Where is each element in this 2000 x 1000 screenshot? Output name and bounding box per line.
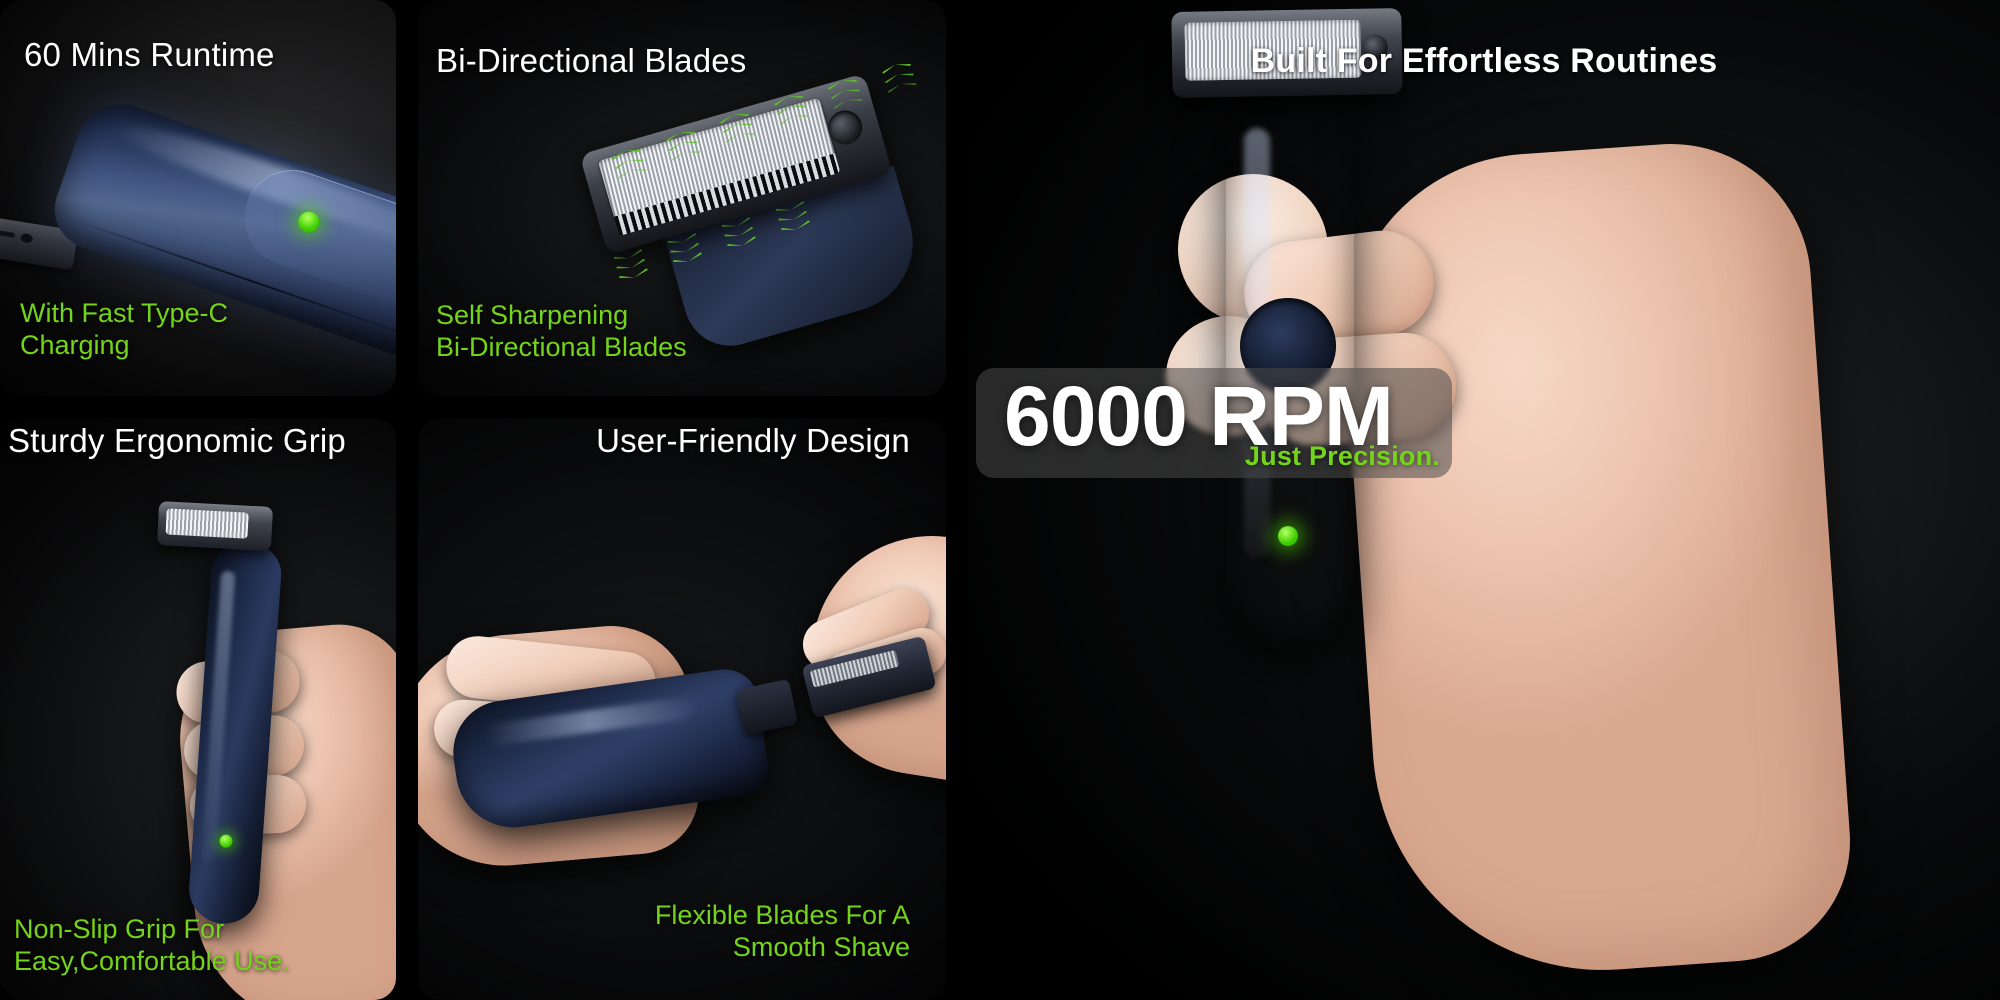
panel-design-headline: User-Friendly Design — [596, 422, 910, 460]
panel-grip[interactable]: Sturdy Ergonomic Grip Non-Slip Grip For … — [0, 418, 396, 1000]
product-feature-collage: 60 Mins Runtime With Fast Type-C Chargin… — [0, 0, 2000, 1000]
panel-hero[interactable]: Built For Effortless Routines 6000 RPM J… — [968, 0, 2000, 1000]
panel-grip-headline: Sturdy Ergonomic Grip — [8, 422, 346, 460]
vibration-chevron-icon — [613, 248, 649, 281]
body-gloss-highlight — [201, 571, 235, 861]
hero-headline: Built For Effortless Routines — [968, 42, 2000, 81]
panel-blades[interactable]: Bi-Directional Blades Self Sharpening Bi… — [418, 0, 946, 396]
panel-design[interactable]: User-Friendly Design Flexible Blades For… — [418, 418, 946, 1000]
rpm-badge: 6000 RPM Just Precision. — [976, 368, 1452, 478]
hand-holding-trimmer-icon — [968, 0, 2000, 1000]
panel-blades-headline: Bi-Directional Blades — [436, 42, 747, 80]
foil-mesh — [165, 508, 248, 538]
blade-socket-icon — [736, 679, 798, 735]
panel-grip-caption: Non-Slip Grip For Easy,Comfortable Use. — [14, 914, 290, 978]
vibration-chevron-icon — [881, 60, 917, 93]
power-led-icon — [219, 834, 233, 848]
hand-holding-trimmer-icon — [0, 418, 396, 1000]
panel-runtime-caption: With Fast Type-C Charging — [20, 298, 228, 362]
rpm-subtitle: Just Precision. — [1245, 441, 1440, 472]
panel-runtime-headline: 60 Mins Runtime — [24, 36, 275, 74]
power-led-icon — [1278, 526, 1298, 546]
panel-blades-caption: Self Sharpening Bi-Directional Blades — [436, 300, 687, 364]
blade-foil-icon — [157, 501, 273, 551]
body-gloss-highlight — [483, 695, 698, 747]
panel-runtime[interactable]: 60 Mins Runtime With Fast Type-C Chargin… — [0, 0, 396, 396]
panel-design-caption: Flexible Blades For A Smooth Shave — [655, 900, 910, 964]
